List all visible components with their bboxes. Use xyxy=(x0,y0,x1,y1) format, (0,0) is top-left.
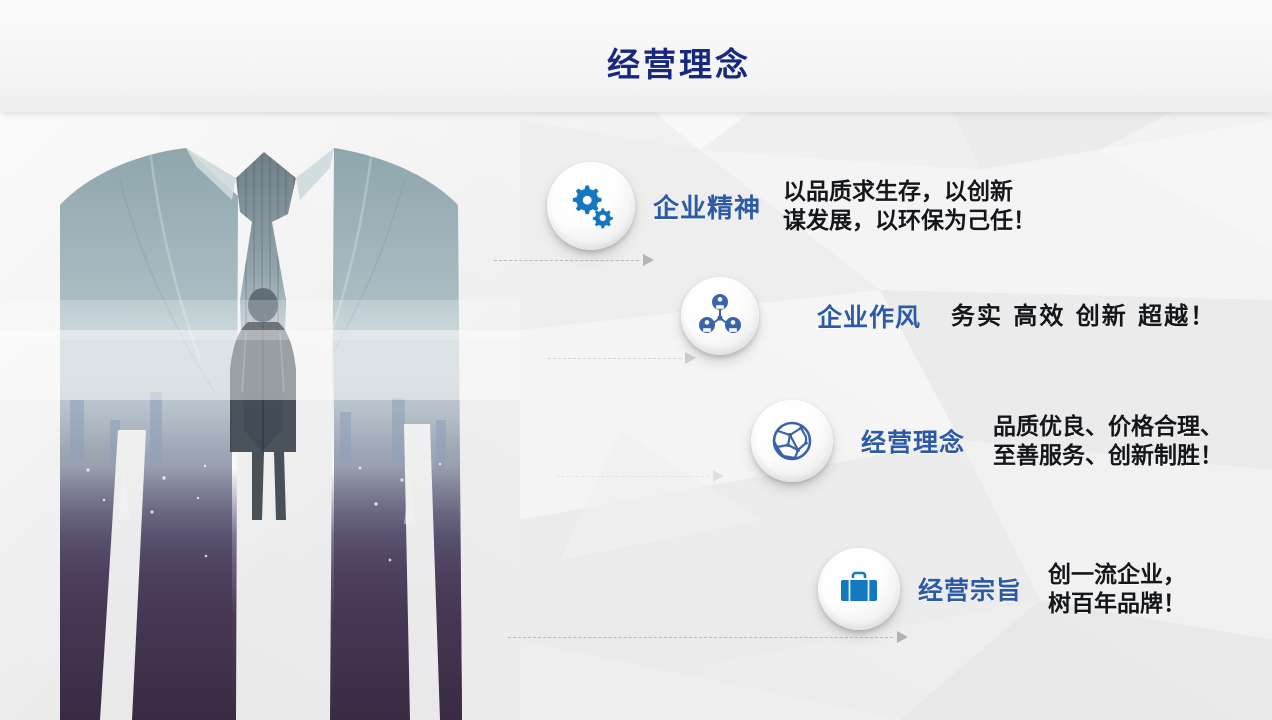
arrow-head-icon xyxy=(897,631,908,643)
item-body-2: 务实 高效 创新 超越！ xyxy=(951,301,1216,332)
connector-dash xyxy=(494,260,639,261)
item-body-1: 以品质求生存，以创新 谋发展，以环保为己任！ xyxy=(783,177,1036,236)
arrow-head-icon xyxy=(713,470,724,482)
connector-arrow-4 xyxy=(508,631,908,643)
icon-disc-2[interactable] xyxy=(681,277,759,355)
content-row-1[interactable]: 企业精神 以品质求生存，以创新 谋发展，以环保为己任！ xyxy=(547,162,1036,250)
item-heading-1: 企业精神 xyxy=(653,188,761,225)
connector-arrow-2 xyxy=(548,352,696,364)
item-heading-2: 企业作风 xyxy=(817,298,921,334)
item-heading-3: 经营理念 xyxy=(861,423,965,459)
item-heading-4: 经营宗旨 xyxy=(918,571,1022,607)
page-title-text: 经营理念 xyxy=(521,45,751,84)
slide-header: 经营理念 xyxy=(0,0,1272,112)
icon-disc-4[interactable] xyxy=(818,548,900,630)
connector-dash xyxy=(556,476,709,477)
content-row-4[interactable]: 经营宗旨 创一流企业， 树百年品牌！ xyxy=(818,548,1186,630)
item-body-3: 品质优良、价格合理、 至善服务、创新制胜！ xyxy=(993,412,1223,471)
slide-canvas: 经营理念 企业精神 以品质求生存，以创新 谋发展，以环 xyxy=(0,0,1272,720)
team-network-icon xyxy=(697,293,743,339)
page-title: 经营理念 xyxy=(0,38,1272,86)
arrow-head-icon xyxy=(643,254,654,266)
content-row-2[interactable]: 企业作风 务实 高效 创新 超越！ xyxy=(681,277,1216,355)
connector-dash xyxy=(548,358,681,359)
globe-network-icon xyxy=(768,417,816,465)
connector-arrow-3 xyxy=(556,470,724,482)
item-body-4: 创一流企业， 树百年品牌！ xyxy=(1048,560,1186,619)
content-row-3[interactable]: 经营理念 品质优良、价格合理、 至善服务、创新制胜！ xyxy=(751,400,1223,482)
icon-disc-1[interactable] xyxy=(547,162,635,250)
icon-disc-3[interactable] xyxy=(751,400,833,482)
briefcase-icon xyxy=(836,566,882,612)
connector-arrow-1 xyxy=(494,254,654,266)
gears-icon xyxy=(566,181,616,231)
connector-dash xyxy=(508,637,893,638)
